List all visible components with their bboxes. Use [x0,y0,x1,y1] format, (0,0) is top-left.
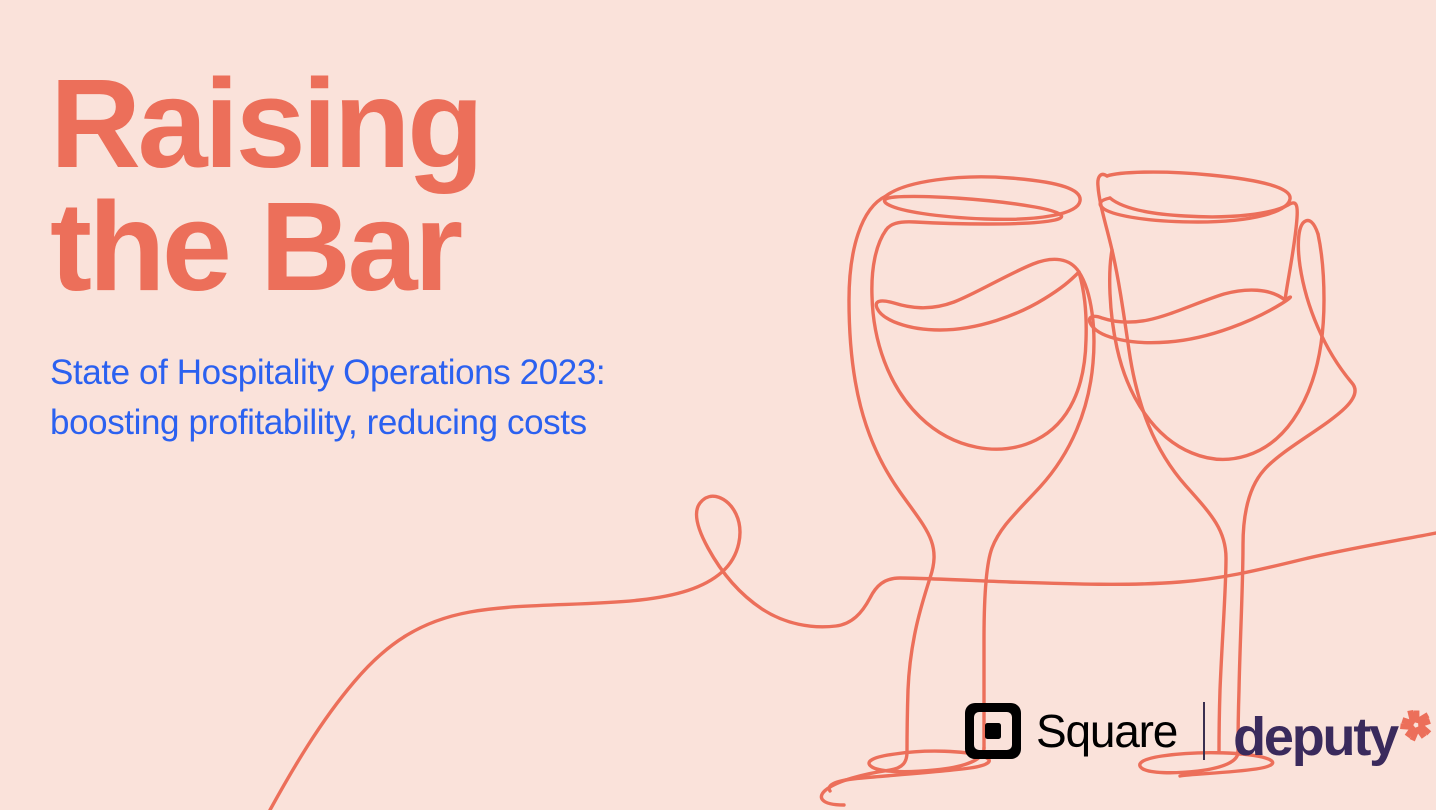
page-subtitle: State of Hospitality Operations 2023: bo… [50,348,710,447]
left-glass-bowl-right [984,272,1094,748]
left-glass-inner-bowl [872,230,1086,449]
deputy-logo: deputy [1233,704,1436,758]
deputy-wordmark: deputy [1233,710,1397,764]
right-glass-inner-rim-tail [1238,221,1355,753]
left-glass-outer [821,196,934,805]
right-glass-bowl-lower [1110,234,1324,459]
title-slide: Raising the Bar State of Hospitality Ope… [0,0,1436,810]
right-glass-inner-bowl [1110,198,1297,300]
square-logo-mark [965,703,1021,759]
left-glass-wine-line [876,259,1079,330]
right-glass-outer [1098,174,1226,752]
square-wordmark: Square [1036,708,1177,754]
logo-lockup: Square deputy [965,695,1436,767]
headline-block: Raising the Bar [50,62,690,309]
page-title: Raising the Bar [50,62,690,309]
left-glass-rim [884,177,1080,230]
right-glass-wine-line [1089,290,1290,343]
logo-divider [1203,702,1205,760]
square-logo: Square [965,703,1177,759]
deputy-pinwheel-icon [1395,704,1436,746]
right-glass-rim [1100,172,1290,222]
